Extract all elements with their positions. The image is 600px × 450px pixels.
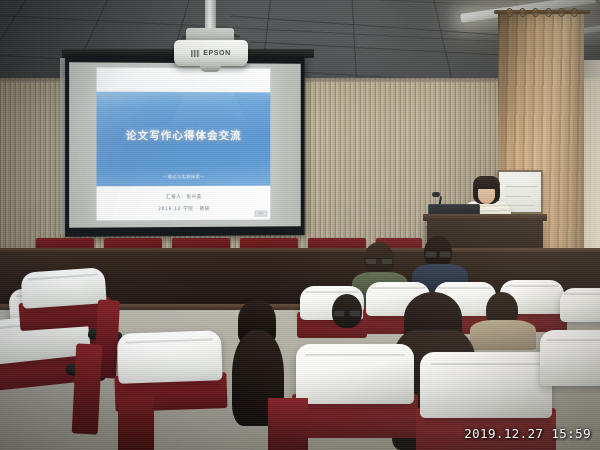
- audience-seat[interactable]: [560, 288, 600, 332]
- seat-headrest-cover: [20, 267, 106, 309]
- screen-surface: 论文写作心得体会交流 —理论与实践探索— 汇报人：张兴美 2019.12 学院 …: [69, 62, 301, 228]
- seat-headrest-cover: [296, 344, 414, 404]
- slide-badge: PPT: [254, 211, 267, 217]
- slide-title-band: 论文写作心得体会交流 —理论与实践探索—: [97, 92, 271, 187]
- slide-subtitle: —理论与实践探索—: [163, 174, 205, 180]
- eyeglasses-icon: [424, 251, 452, 258]
- seat-headrest-cover: [117, 330, 223, 384]
- epson-projector: EPSON: [174, 40, 248, 66]
- eyeglasses-icon: [364, 258, 394, 265]
- audience-seat[interactable]: [540, 330, 600, 410]
- slide-presenter-line: 汇报人：张兴美: [166, 194, 202, 200]
- curtain-ring-icon: [532, 8, 539, 17]
- curtain-ring-icon: [519, 8, 526, 17]
- projector-lens: [200, 64, 221, 72]
- projector-brand-label: EPSON: [203, 50, 231, 57]
- audience-head: [364, 242, 394, 276]
- curtain-ring-icon: [558, 8, 565, 17]
- curtain-ring-icon: [506, 8, 513, 17]
- audience-seat[interactable]: [296, 344, 414, 424]
- audience-seat[interactable]: [117, 330, 223, 400]
- vent-grille-icon: [191, 50, 200, 57]
- lecture-hall-photo: 论文写作心得体会交流 —理论与实践探索— 汇报人：张兴美 2019.12 学院 …: [0, 0, 600, 450]
- microphone-head-icon: [432, 192, 440, 197]
- projection-screen: 论文写作心得体会交流 —理论与实践探索— 汇报人：张兴美 2019.12 学院 …: [65, 55, 305, 237]
- slide-date-line: 2019.12 学院 · 教研: [158, 206, 210, 212]
- camera-timestamp: 2019.12.27 15:59: [464, 426, 591, 441]
- seat-headrest-cover: [420, 352, 552, 418]
- seat-side-panel: [268, 398, 308, 450]
- slide-top-band: [97, 67, 271, 92]
- seat-headrest-cover: [560, 288, 600, 322]
- podium-top-surface: [423, 214, 547, 221]
- presenter-fringe: [473, 176, 500, 189]
- curtain-ring-icon: [571, 8, 578, 17]
- slide-title: 论文写作心得体会交流: [126, 128, 242, 143]
- audience-shoulders: [470, 320, 536, 350]
- seat-side-panel: [72, 343, 103, 434]
- curtain-ring-icon: [545, 8, 552, 17]
- audience-head: [332, 294, 362, 328]
- seat-side-panel: [118, 396, 154, 450]
- audience-seat[interactable]: [20, 267, 107, 321]
- eyeglasses-icon: [332, 310, 362, 317]
- seat-headrest-cover: [540, 330, 600, 386]
- presentation-slide: 论文写作心得体会交流 —理论与实践探索— 汇报人：张兴美 2019.12 学院 …: [97, 67, 271, 220]
- slide-footer: 汇报人：张兴美 2019.12 学院 · 教研 PPT: [97, 186, 271, 221]
